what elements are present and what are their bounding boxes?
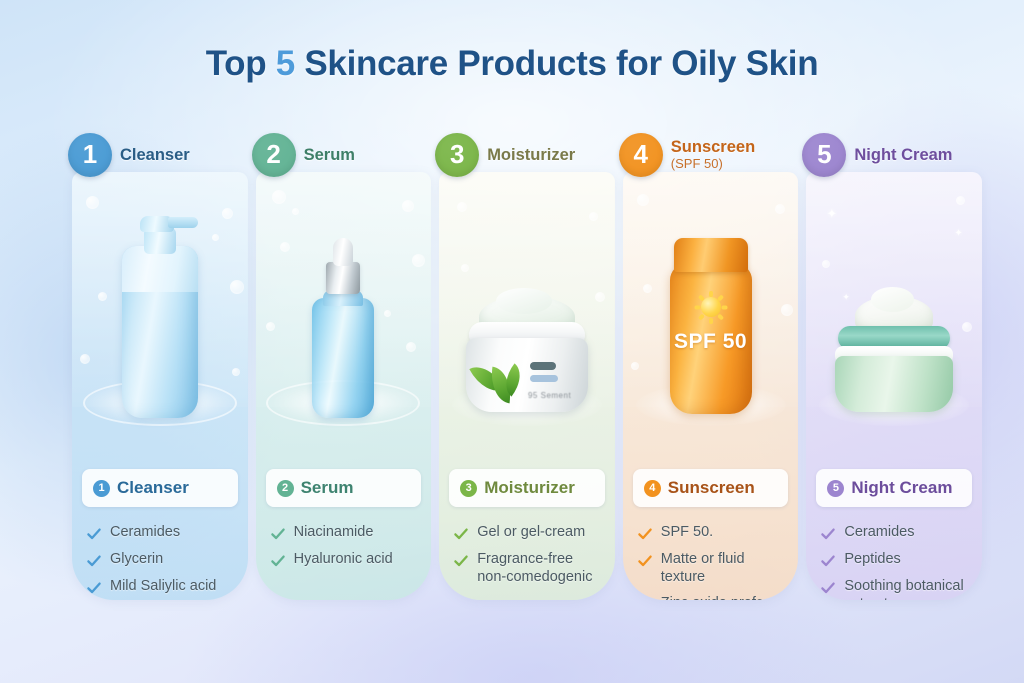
jar-chip-light [530, 375, 558, 382]
product-panel: ✦✦✦5Night CreamCeramidesPeptidesSoothing… [806, 172, 982, 600]
benefit-item: Gel or gel-cream [453, 524, 607, 542]
product-label: Night Cream [851, 478, 952, 498]
benefit-item: Zinc oxide preferred [637, 595, 791, 600]
rank-badge: 4 [619, 133, 663, 177]
product-header-text: Serum [304, 146, 355, 164]
check-icon [820, 553, 836, 569]
product-label-bar[interactable]: 4Sunscreen [633, 469, 789, 507]
benefit-item: Matte or fluid texture [637, 551, 791, 586]
title-suffix: Skincare Products for Oily Skin [295, 44, 818, 83]
benefit-label: Niacinamide [294, 524, 374, 542]
night-cream-jar: ✦✦✦ [806, 172, 982, 432]
check-icon [270, 526, 286, 542]
benefit-label: Ceramides [844, 524, 914, 542]
benefit-label: SPF 50. [661, 524, 713, 542]
benefit-label: Peptides [844, 551, 900, 569]
rank-badge-small: 5 [827, 480, 844, 497]
benefit-label: Soothing botanicalextracts [844, 578, 963, 600]
benefit-label: Matte or fluid texture [661, 551, 791, 586]
benefit-label: Gel or gel-cream [477, 524, 585, 542]
product-label: Sunscreen [668, 478, 755, 498]
check-icon [637, 553, 653, 569]
rank-badge-small: 1 [93, 480, 110, 497]
product-label: Moisturizer [484, 478, 575, 498]
benefit-item: Peptides [820, 551, 974, 569]
benefit-item: SPF 50. [637, 524, 791, 542]
bottle-spf-text: SPF 50 [623, 330, 799, 354]
rank-badge-small: 3 [460, 480, 477, 497]
product-label-bar[interactable]: 3Moisturizer [449, 469, 605, 507]
benefit-item: Mild Saliylic acid [86, 578, 240, 596]
check-icon [453, 553, 469, 569]
benefit-label: Fragrance-freenon-comedogenic [477, 551, 592, 586]
product-header: 1Cleanser [68, 126, 190, 184]
jar-label-text: 95 Sement [528, 391, 571, 400]
product-name: Cleanser [120, 146, 190, 164]
product-header: 2Serum [252, 126, 355, 184]
benefit-item: Fragrance-freenon-comedogenic [453, 551, 607, 586]
product-column-sunscreen[interactable]: SPF 504SunscreenSPF 50.Matte or fluid te… [619, 126, 803, 604]
product-panel: SPF 504SunscreenSPF 50.Matte or fluid te… [623, 172, 799, 600]
benefit-item: Glycerin [86, 551, 240, 569]
benefit-item: Ceramides [820, 524, 974, 542]
cleanser-pump-bottle [72, 172, 248, 432]
benefit-list: SPF 50.Matte or fluid textureZinc oxide … [637, 524, 791, 600]
check-icon [86, 553, 102, 569]
product-name: Serum [304, 146, 355, 164]
product-label: Serum [301, 478, 354, 498]
product-header-text: Moisturizer [487, 146, 575, 164]
sparkle-icon: ✦ [954, 228, 962, 239]
benefit-list: Gel or gel-creamFragrance-freenon-comedo… [453, 524, 607, 595]
benefit-label: Mild Saliylic acid [110, 578, 216, 596]
bottle-body [122, 246, 198, 418]
product-label-bar[interactable]: 1Cleanser [82, 469, 238, 507]
benefit-label: Hyaluronic acid [294, 551, 393, 569]
product-header: 4Sunscreen(SPF 50) [619, 126, 755, 184]
pump-spout [168, 217, 198, 228]
benefit-item: Soothing botanicalextracts [820, 578, 974, 600]
check-icon [637, 526, 653, 542]
benefit-label: Zinc oxide preferred [661, 595, 790, 600]
check-icon [637, 597, 653, 600]
jar-body [835, 356, 953, 412]
product-subtitle: (SPF 50) [671, 157, 755, 172]
infographic-root: Top 5 Skincare Products for Oily Skin 1C… [0, 0, 1024, 683]
jar-body: 95 Sement [466, 338, 588, 412]
benefit-list: CeramidesGlycerinMild Saliylic acid [86, 524, 240, 600]
check-icon [86, 580, 102, 596]
rank-badge-small: 2 [277, 480, 294, 497]
dropper-cap [326, 262, 360, 294]
rank-badge: 5 [802, 133, 846, 177]
check-icon [820, 580, 836, 596]
title-prefix: Top [206, 44, 276, 83]
rank-badge: 3 [435, 133, 479, 177]
product-header-text: Cleanser [120, 146, 190, 164]
product-header-text: Night Cream [854, 146, 952, 164]
rank-badge: 1 [68, 133, 112, 177]
product-name: Sunscreen [671, 138, 755, 156]
product-name: Night Cream [854, 146, 952, 164]
benefit-label: Glycerin [110, 551, 163, 569]
jar-chip-dark [530, 362, 556, 370]
product-column-night-cream[interactable]: ✦✦✦5Night CreamCeramidesPeptidesSoothing… [802, 126, 986, 604]
page-title: Top 5 Skincare Products for Oily Skin [0, 44, 1024, 84]
rank-badge: 2 [252, 133, 296, 177]
product-header: 3Moisturizer [435, 126, 575, 184]
product-panel: 2SerumNiacinamideHyaluronic acid [256, 172, 432, 600]
check-icon [820, 526, 836, 542]
product-columns: 1CleanserCeramidesGlycerinMild Saliylic … [68, 126, 986, 604]
dropper-bulb [333, 238, 353, 266]
rank-badge-small: 4 [644, 480, 661, 497]
product-name: Moisturizer [487, 146, 575, 164]
product-column-cleanser[interactable]: 1CleanserCeramidesGlycerinMild Saliylic … [68, 126, 252, 604]
benefit-item: Niacinamide [270, 524, 424, 542]
check-icon [86, 526, 102, 542]
product-label: Cleanser [117, 478, 189, 498]
product-header: 5Night Cream [802, 126, 952, 184]
product-header-text: Sunscreen(SPF 50) [671, 138, 755, 171]
benefit-label: Ceramides [110, 524, 180, 542]
sparkle-icon: ✦ [826, 206, 837, 222]
check-icon [270, 553, 286, 569]
product-column-serum[interactable]: 2SerumNiacinamideHyaluronic acid2Serum [252, 126, 436, 604]
benefit-item: Ceramides [86, 524, 240, 542]
benefit-list: NiacinamideHyaluronic acid [270, 524, 424, 578]
product-panel: 95 Sement3MoisturizerGel or gel-creamFra… [439, 172, 615, 600]
product-label-bar[interactable]: 2Serum [266, 469, 422, 507]
sparkle-icon: ✦ [842, 292, 850, 303]
product-column-moisturizer[interactable]: 95 Sement3MoisturizerGel or gel-creamFra… [435, 126, 619, 604]
benefit-list: CeramidesPeptidesSoothing botanicalextra… [820, 524, 974, 600]
bottle-body [312, 298, 374, 418]
product-panel: 1CleanserCeramidesGlycerinMild Saliylic … [72, 172, 248, 600]
product-label-bar[interactable]: 5Night Cream [816, 469, 972, 507]
sunscreen-bottle: SPF 50 [623, 172, 799, 432]
bottle-cap [674, 238, 748, 272]
title-number: 5 [276, 44, 295, 83]
sun-icon [694, 290, 728, 324]
moisturizer-cream-jar: 95 Sement [439, 172, 615, 432]
check-icon [453, 526, 469, 542]
benefit-item: Hyaluronic acid [270, 551, 424, 569]
serum-dropper-bottle [256, 172, 432, 432]
